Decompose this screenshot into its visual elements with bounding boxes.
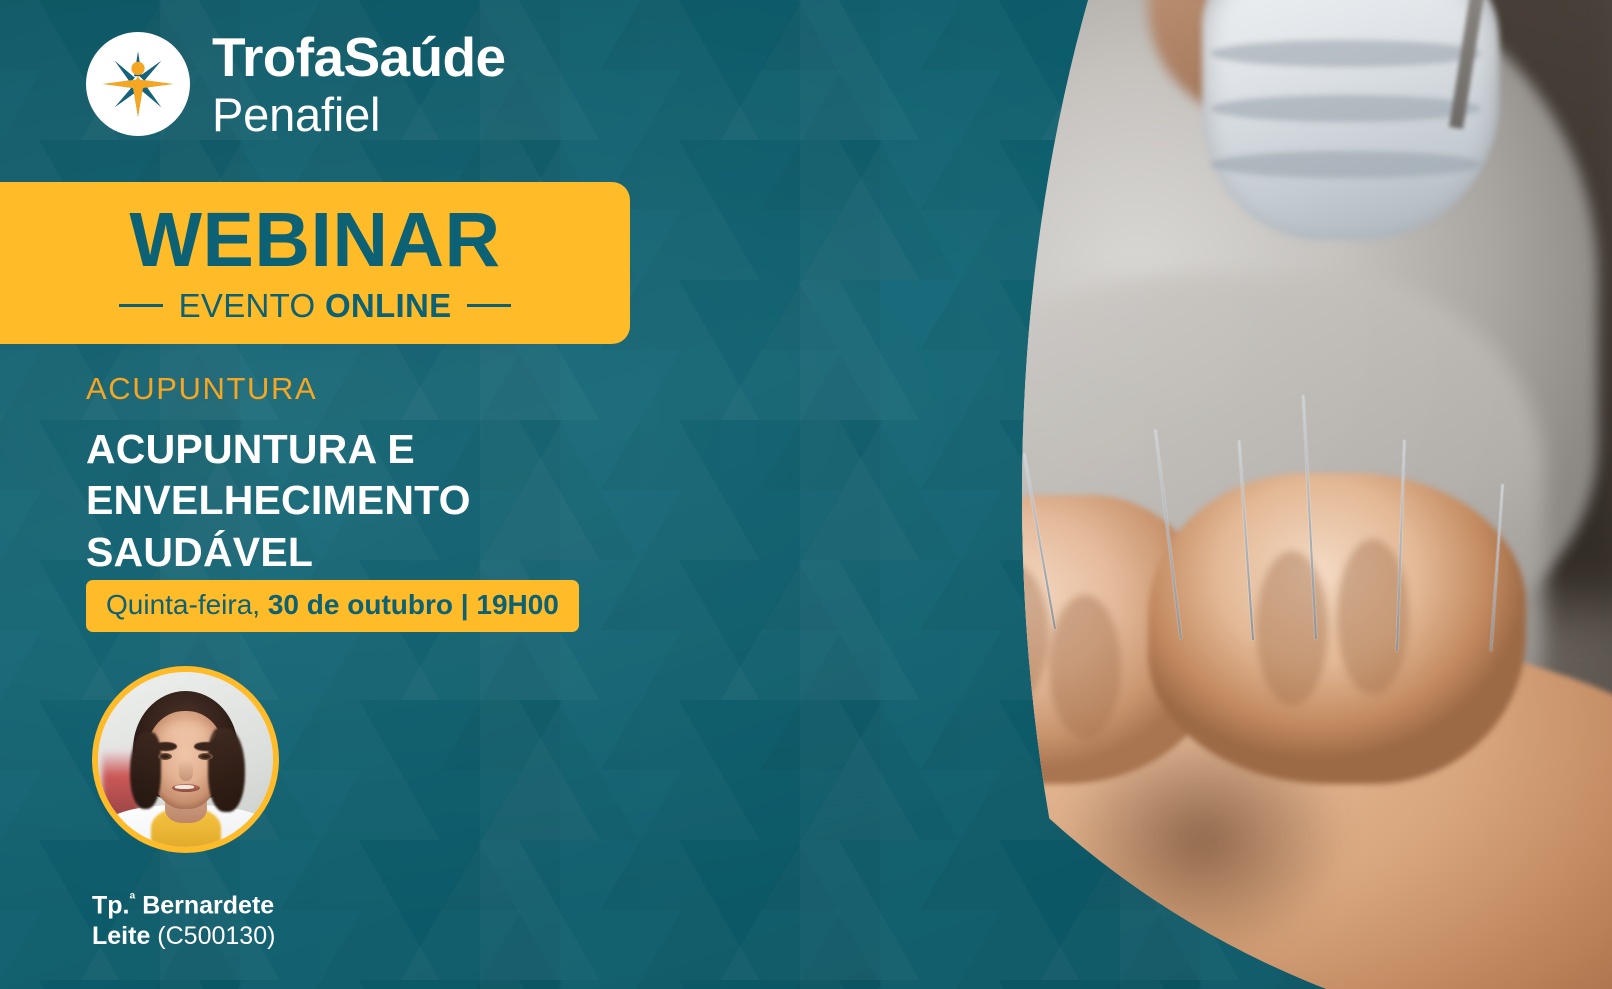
speaker-line-2: Leite (C500130) [92, 921, 275, 952]
brand-unit: Penafiel [212, 91, 506, 138]
speaker-first-name: Bernardete [135, 891, 274, 919]
logo-badge [86, 32, 190, 136]
dash-right-icon [467, 304, 511, 307]
webinar-subtitle-regular: EVENTO [179, 287, 325, 324]
trofasaude-star-person-icon [99, 45, 177, 123]
speaker-name-block: Tp.ª Bernardete Leite (C500130) [92, 890, 275, 952]
speaker-title-prefix: Tp. [92, 891, 130, 919]
webinar-subtitle-bold: ONLINE [325, 287, 451, 324]
webinar-banner: WEBINAR EVENTO ONLINE [0, 182, 630, 344]
event-date-badge: Quinta-feira, 30 de outubro | 19H00 [86, 580, 579, 632]
webinar-title: WEBINAR [129, 202, 500, 279]
speaker-last-name: Leite [92, 922, 150, 950]
dash-left-icon [119, 304, 163, 307]
webinar-subtitle: EVENTO ONLINE [179, 287, 452, 325]
webinar-poster: TrofaSaúde Penafiel WEBINAR EVENTO ONLIN… [0, 0, 1612, 989]
photo-clip [852, 0, 1612, 989]
acupuncture-photo [852, 0, 1612, 989]
speaker-credential: (C500130) [150, 922, 275, 950]
event-title: ACUPUNTURA E ENVELHECIMENTO SAUDÁVEL [86, 424, 646, 578]
webinar-subtitle-row: EVENTO ONLINE [119, 287, 512, 325]
brand-name: TrofaSaúde [212, 30, 506, 85]
brand-logo: TrofaSaúde Penafiel [86, 30, 506, 138]
speaker-portrait [98, 672, 273, 847]
event-date-time: 30 de outubro | 19H00 [268, 589, 559, 620]
avatar [92, 666, 279, 853]
left-content-panel: TrofaSaúde Penafiel WEBINAR EVENTO ONLIN… [0, 0, 900, 989]
acupuncture-photo-panel [852, 0, 1612, 989]
event-date-weekday: Quinta-feira, [106, 589, 268, 620]
event-category: ACUPUNTURA [86, 371, 317, 407]
speaker-line-1: Tp.ª Bernardete [92, 890, 275, 921]
